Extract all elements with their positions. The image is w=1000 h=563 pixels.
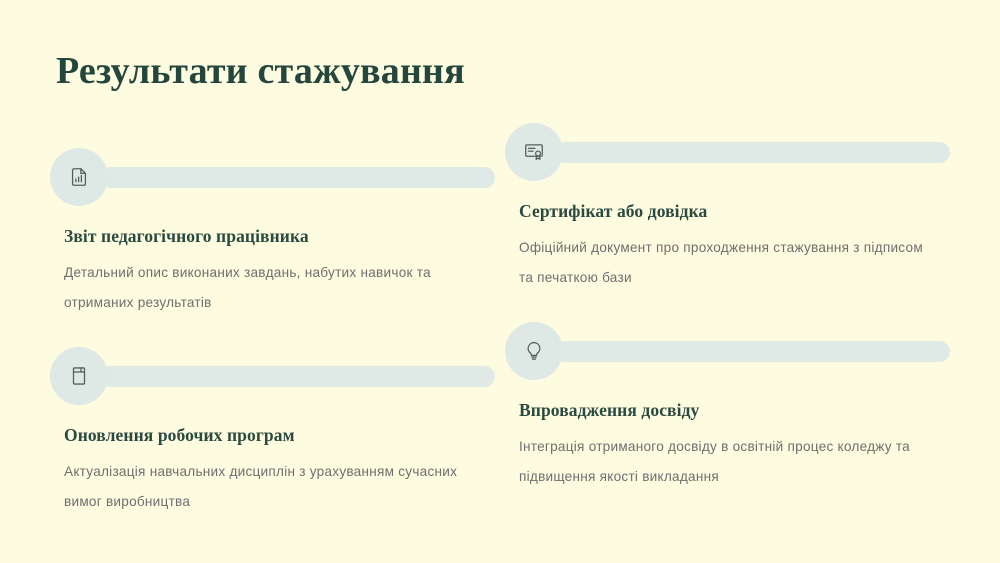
card-title: Оновлення робочих програм [64, 424, 500, 446]
card-header [505, 322, 955, 380]
card-description: Актуалізація навчальних дисциплін з урах… [64, 457, 469, 517]
result-card-certificate: Сертифікат або довідка Офіційний докумен… [505, 123, 955, 293]
document-chart-icon [68, 166, 90, 188]
result-card-report: Звіт педагогічного працівника Детальний … [50, 148, 500, 318]
card-title: Сертифікат або довідка [519, 200, 955, 222]
certificate-award-icon [523, 141, 545, 163]
result-card-programs: Оновлення робочих програм Актуалізація н… [50, 347, 500, 517]
card-icon-badge [50, 347, 108, 405]
card-header [505, 123, 955, 181]
card-icon-badge [505, 322, 563, 380]
slide-canvas: Результати стажування Звіт педагогічного… [0, 0, 1000, 563]
card-icon-badge [505, 123, 563, 181]
page-title: Результати стажування [56, 48, 465, 94]
card-description: Інтеграція отриманого досвіду в освітній… [519, 432, 924, 492]
card-title: Впровадження досвіду [519, 399, 955, 421]
lightbulb-icon [523, 340, 545, 362]
card-icon-badge [50, 148, 108, 206]
card-description: Детальний опис виконаних завдань, набути… [64, 258, 469, 318]
book-icon [68, 365, 90, 387]
card-header [50, 148, 500, 206]
card-accent-bar [555, 142, 950, 163]
card-description: Офіційний документ про проходження стажу… [519, 233, 924, 293]
result-card-experience: Впровадження досвіду Інтеграція отримано… [505, 322, 955, 492]
card-accent-bar [100, 167, 495, 188]
card-title: Звіт педагогічного працівника [64, 225, 500, 247]
card-accent-bar [555, 341, 950, 362]
card-accent-bar [100, 366, 495, 387]
card-header [50, 347, 500, 405]
